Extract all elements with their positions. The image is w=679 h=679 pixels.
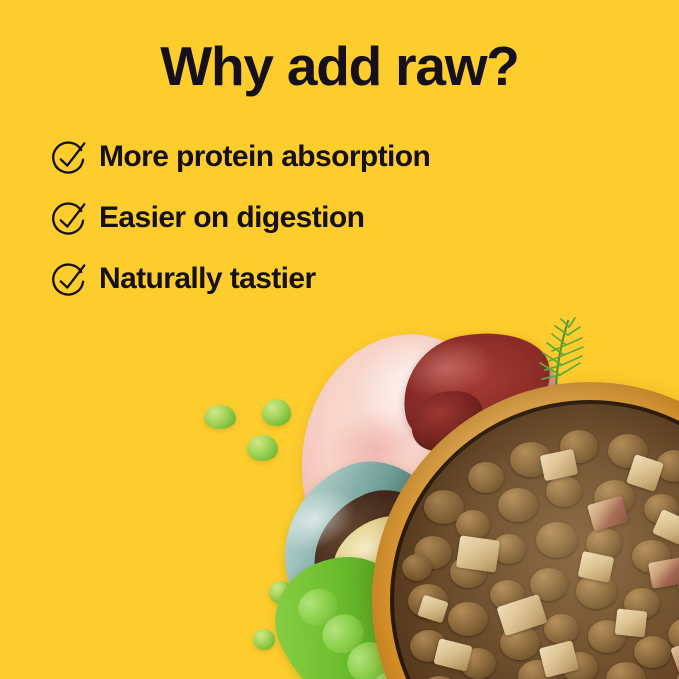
pea-icon — [262, 399, 291, 426]
mussel-flesh — [320, 501, 444, 607]
page-title: Why add raw? — [0, 36, 679, 96]
liver-lobe-image — [404, 383, 491, 457]
bowl-interior — [390, 400, 679, 679]
list-item: More protein absorption — [51, 128, 611, 189]
list-item-label: Naturally tastier — [99, 262, 316, 299]
list-item: Easier on digestion — [51, 189, 611, 250]
list-item: Naturally tastier — [51, 250, 611, 311]
pea-icon — [269, 581, 293, 604]
pea-icon — [253, 629, 275, 650]
circled-checkmark-icon — [51, 202, 87, 238]
list-item-label: More protein absorption — [99, 140, 430, 177]
circled-checkmark-icon — [51, 263, 87, 299]
pea-icon — [293, 602, 316, 624]
chicken-tip-image — [461, 341, 567, 426]
list-item-label: Easier on digestion — [99, 201, 364, 238]
chicken-breast-image — [286, 323, 529, 587]
mussel-shell-image — [255, 438, 471, 644]
bowl-shading — [372, 382, 679, 679]
promo-graphic: Why add raw? More protein absorption Eas… — [0, 0, 679, 679]
dog-food-bowl-image — [372, 382, 679, 679]
benefit-list: More protein absorption Easier on digest… — [51, 128, 611, 311]
kibble-field — [394, 404, 679, 679]
pea-pod-image — [255, 536, 446, 679]
food-photo-collage — [0, 0, 679, 679]
pea-icon — [204, 405, 236, 429]
liver-image — [394, 322, 561, 456]
pea-icon — [289, 640, 310, 660]
pea-icon — [247, 435, 278, 461]
rosemary-svg — [512, 313, 590, 395]
rosemary-sprig-image — [512, 313, 590, 395]
mussel-highlight — [269, 474, 386, 574]
mussel-interior — [293, 472, 457, 622]
circled-checkmark-icon — [51, 141, 87, 177]
